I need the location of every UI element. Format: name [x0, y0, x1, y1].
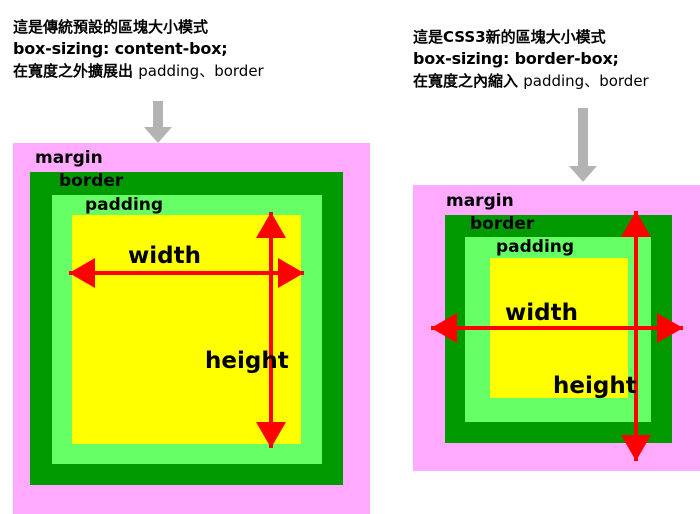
border-box-border-label: border	[470, 214, 534, 234]
content-box-diagram: margin border padding width height	[13, 143, 370, 514]
left-caption-note-terms: padding、border	[138, 62, 263, 80]
arrow-shaft-vertical	[634, 211, 638, 461]
border-box-width-label: width	[505, 300, 578, 326]
left-caption-note: 在寬度之外擴展出 padding、border	[13, 60, 264, 82]
arrow-head-down	[256, 422, 286, 448]
content-box-margin-label: margin	[35, 148, 103, 168]
left-caption-title: 這是傳統預設的區塊大小模式	[13, 16, 264, 38]
arrow-head-down	[621, 435, 651, 461]
arrow-head-left	[431, 313, 457, 343]
right-caption-title: 這是CSS3新的區塊大小模式	[413, 26, 649, 48]
arrow-shaft	[578, 108, 588, 167]
left-caption-code: box-sizing: content-box;	[13, 38, 264, 60]
content-box-height-label: height	[205, 348, 289, 374]
arrow-shaft-vertical	[269, 212, 273, 448]
border-box-margin-label: margin	[446, 191, 514, 211]
right-caption-note: 在寬度之內縮入 padding、border	[413, 70, 649, 92]
content-box-height-arrow	[256, 212, 286, 448]
content-box-border-label: border	[59, 171, 123, 191]
arrow-shaft	[153, 101, 163, 128]
right-caption-note-terms: padding、border	[523, 72, 648, 90]
right-caption-code: box-sizing: border-box;	[413, 48, 649, 70]
border-box-height-label: height	[553, 373, 637, 399]
content-box-padding-label: padding	[85, 195, 163, 215]
arrow-head	[144, 127, 172, 143]
diagram-canvas: 這是傳統預設的區塊大小模式 box-sizing: content-box; 在…	[0, 0, 700, 514]
arrow-head-up	[256, 212, 286, 238]
content-box-width-label: width	[128, 243, 201, 269]
left-caption-note-prefix: 在寬度之外擴展出	[13, 62, 133, 80]
border-box-height-arrow	[621, 211, 651, 461]
down-arrow-icon-right	[569, 108, 597, 182]
right-caption-note-prefix: 在寬度之內縮入	[413, 72, 518, 90]
arrow-head-up	[621, 211, 651, 237]
left-caption-block: 這是傳統預設的區塊大小模式 box-sizing: content-box; 在…	[13, 16, 264, 82]
arrow-head-right	[657, 313, 683, 343]
down-arrow-icon-left	[144, 101, 172, 143]
right-caption-block: 這是CSS3新的區塊大小模式 box-sizing: border-box; 在…	[413, 26, 649, 92]
arrow-head	[569, 166, 597, 182]
border-box-diagram: margin border padding width height	[413, 185, 700, 471]
border-box-padding-label: padding	[496, 237, 574, 257]
arrow-head-left	[69, 258, 95, 288]
